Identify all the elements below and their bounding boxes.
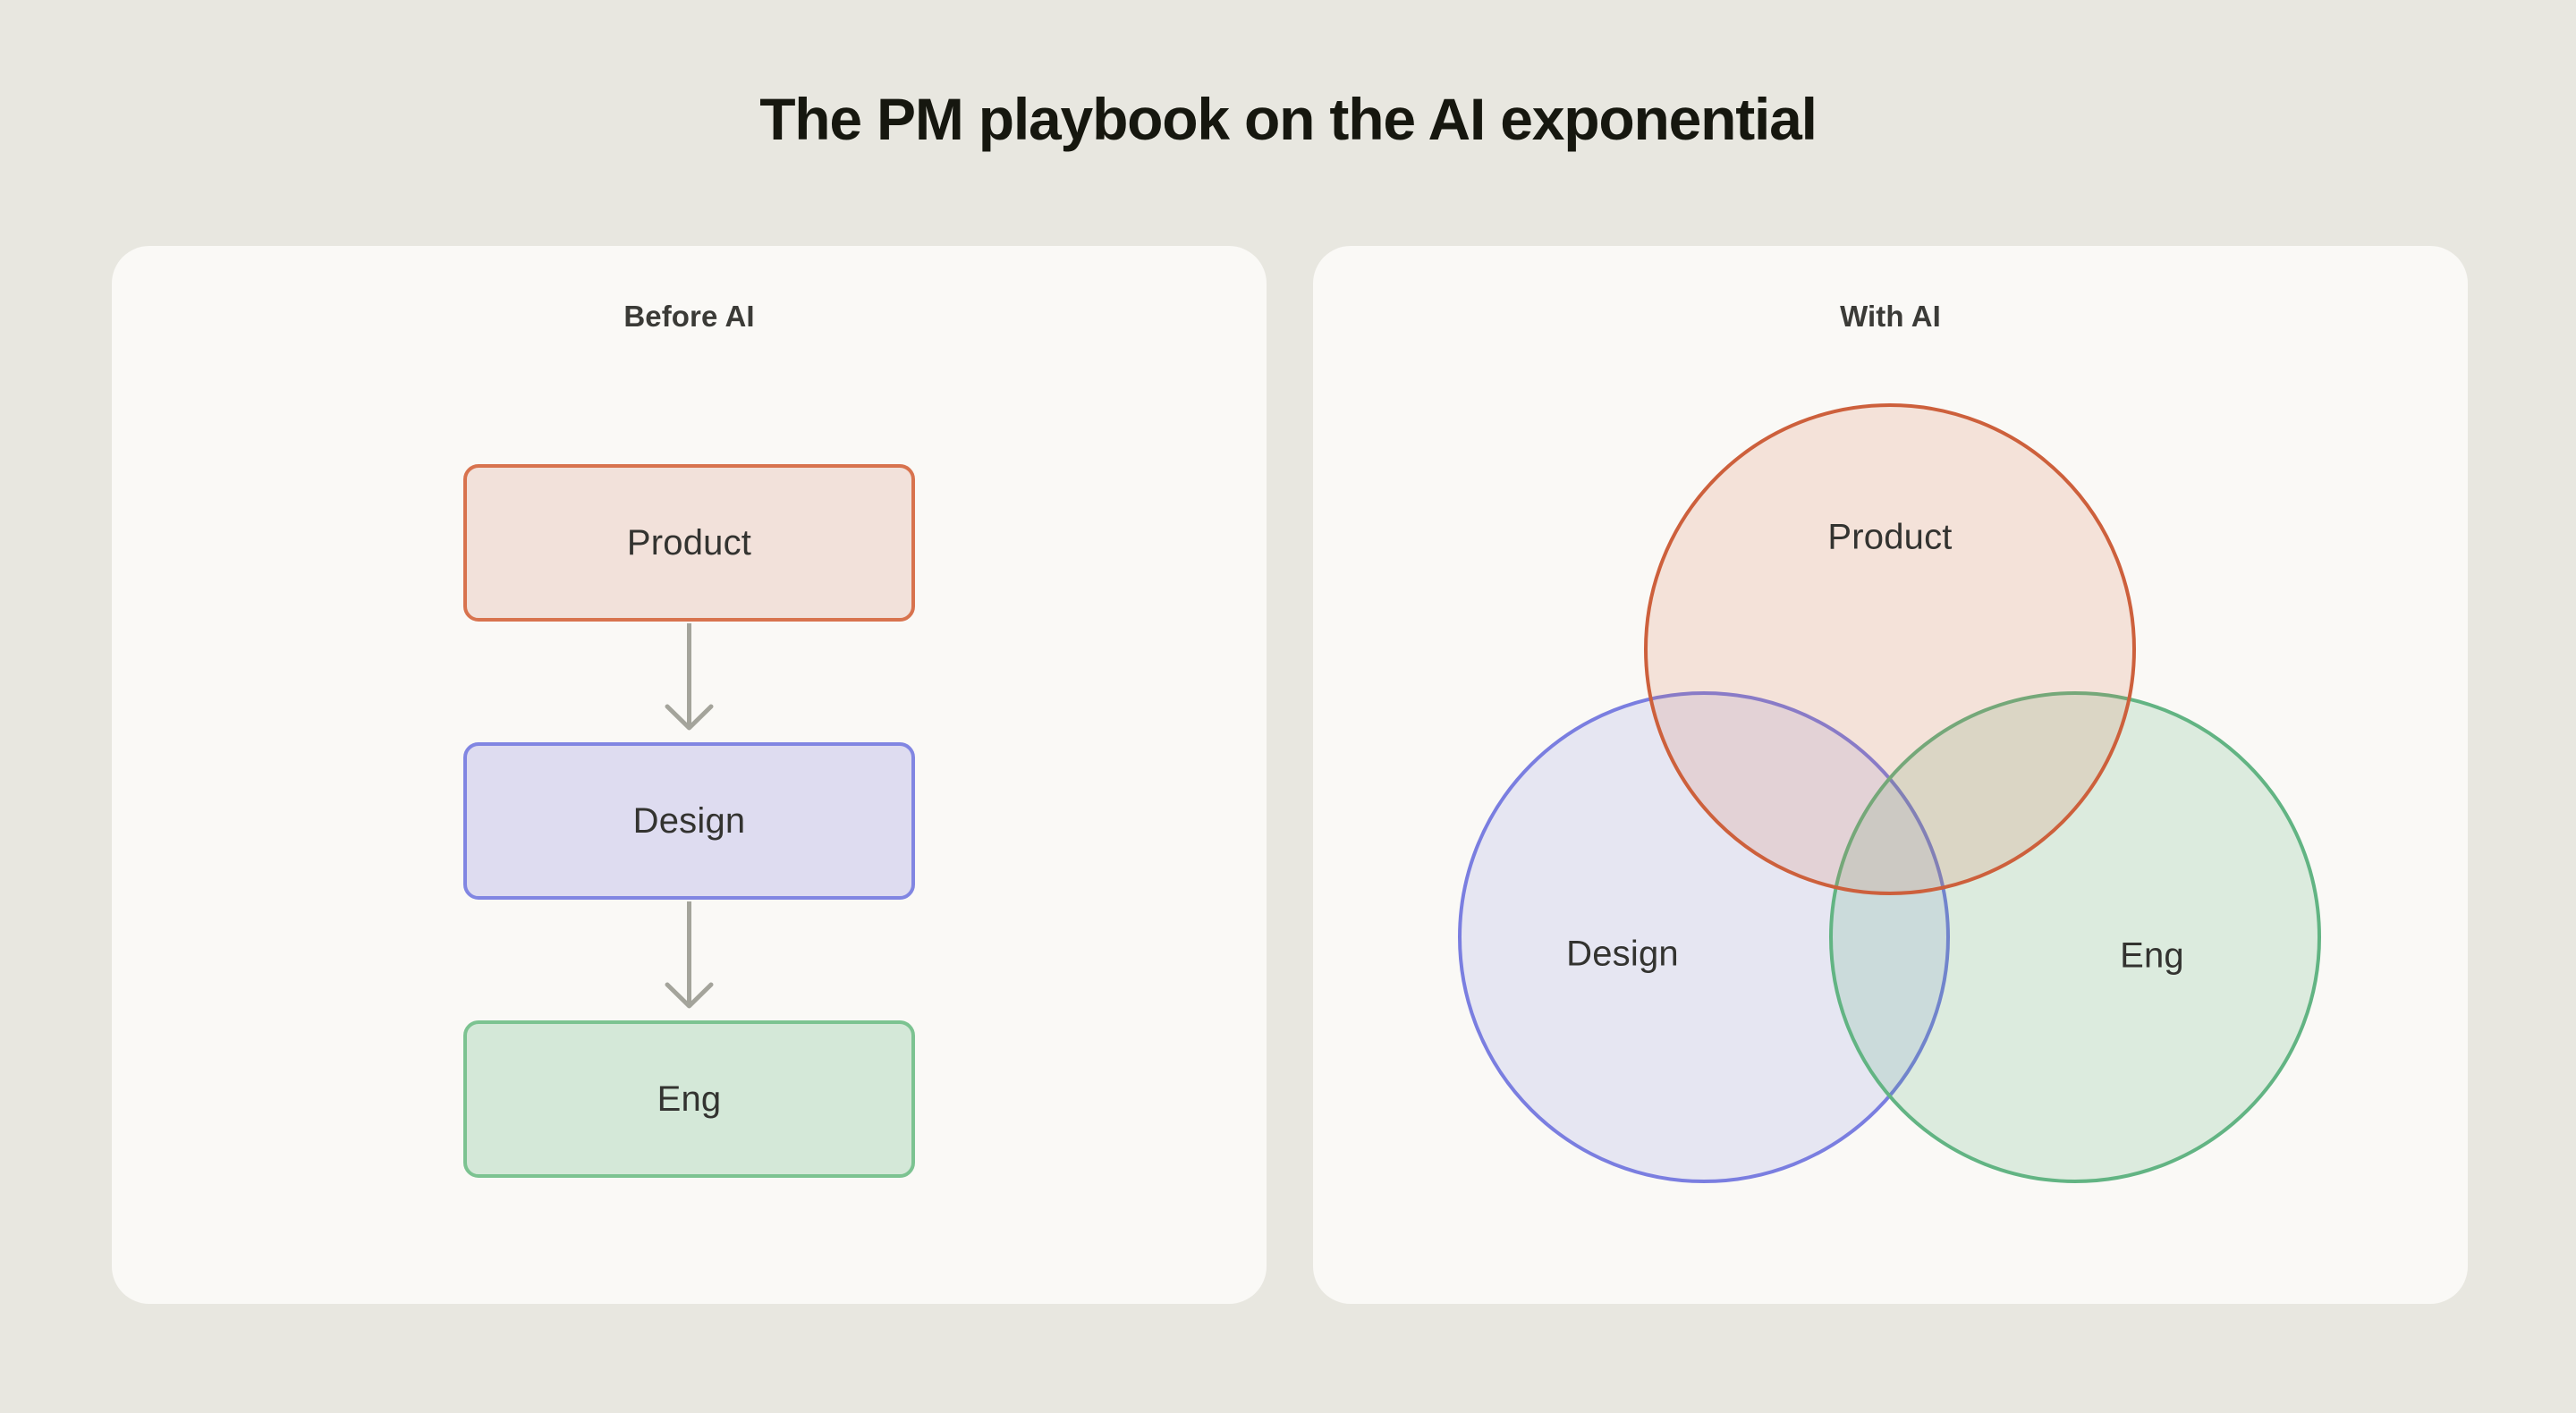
card-before-ai: Before AI Product Design Eng: [112, 246, 1267, 1304]
flow-node-design[interactable]: Design: [463, 742, 915, 900]
card-heading-before-ai: Before AI: [112, 300, 1267, 334]
arrow-down-icon-design-to-eng: [463, 900, 915, 1020]
flow-node-product-label: Product: [627, 523, 751, 563]
flow-node-design-label: Design: [633, 801, 746, 842]
card-heading-with-ai: With AI: [1313, 300, 2468, 334]
flow-diagram: Product Design Eng: [463, 464, 915, 1180]
venn-label-product: Product: [1827, 518, 1952, 558]
page-title: The PM playbook on the AI exponential: [0, 89, 2576, 148]
venn-diagram: Product Design Eng: [1458, 403, 2321, 1183]
venn-label-design: Design: [1566, 935, 1679, 975]
flow-node-eng[interactable]: Eng: [463, 1020, 915, 1178]
flow-node-product[interactable]: Product: [463, 464, 915, 622]
venn-label-eng: Eng: [2120, 936, 2184, 977]
card-with-ai: With AI Product Design Eng: [1313, 246, 2468, 1304]
arrow-down-icon-product-to-design: [463, 622, 915, 742]
venn-circle-product[interactable]: [1644, 403, 2136, 895]
flow-node-eng-label: Eng: [657, 1079, 722, 1120]
